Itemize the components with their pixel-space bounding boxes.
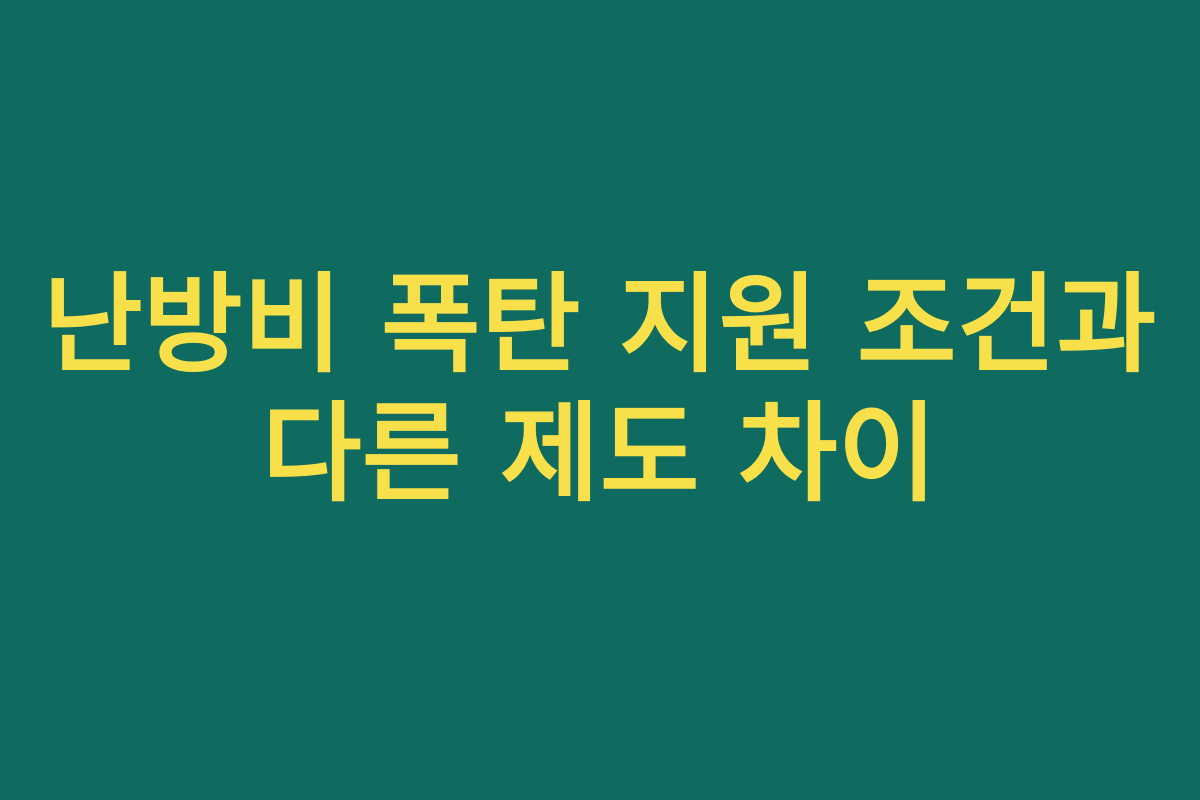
thumbnail-banner: 난방비 폭탄 지원 조건과 다른 제도 차이 <box>0 0 1200 800</box>
headline-line-1: 난방비 폭탄 지원 조건과 <box>40 262 1160 389</box>
headline-block: 난방비 폭탄 지원 조건과 다른 제도 차이 <box>0 262 1200 519</box>
headline-line-2: 다른 제도 차이 <box>40 391 1160 518</box>
